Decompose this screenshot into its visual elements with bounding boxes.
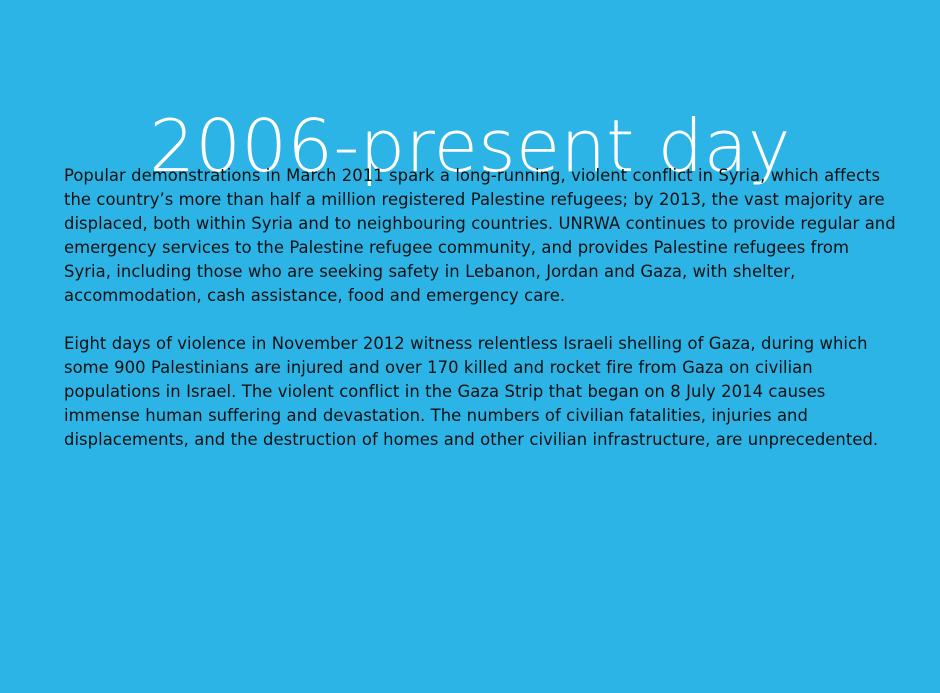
presentation-slide: 2006-present day Popular demonstrations … (0, 0, 940, 693)
body-paragraph-gaza-conflict: Eight days of violence in November 2012 … (64, 332, 898, 452)
slide-body: Popular demonstrations in March 2011 spa… (64, 164, 898, 452)
body-paragraph-syria-conflict: Popular demonstrations in March 2011 spa… (64, 164, 898, 308)
